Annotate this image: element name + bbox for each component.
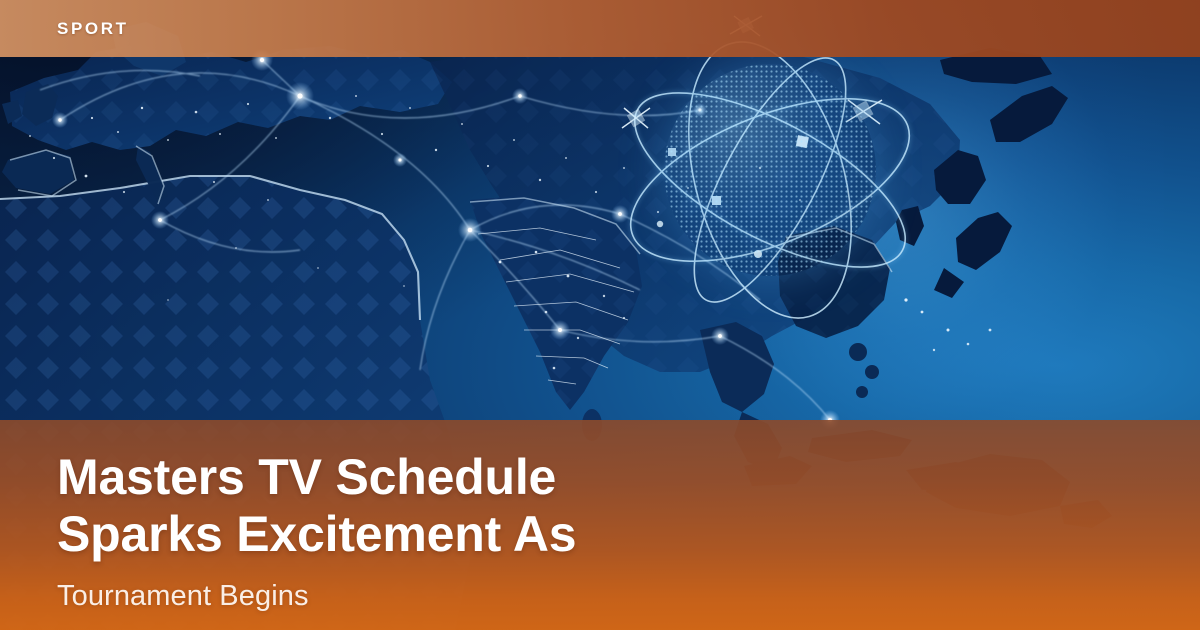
category-bar: SPORT	[0, 0, 1200, 57]
digital-globe-graphic	[612, 22, 924, 340]
page-subtitle: Tournament Begins	[57, 578, 309, 614]
page-title: Masters TV Schedule Sparks Excitement As	[57, 449, 997, 563]
category-label-sport[interactable]: SPORT	[57, 19, 129, 39]
article-hero-card: SPORT Masters TV Schedule Sparks Excitem…	[0, 0, 1200, 630]
headline-line-2: Sparks Excitement As	[57, 506, 997, 563]
headline-line-1: Masters TV Schedule	[57, 449, 997, 506]
globe-halftone-dots	[664, 64, 876, 276]
